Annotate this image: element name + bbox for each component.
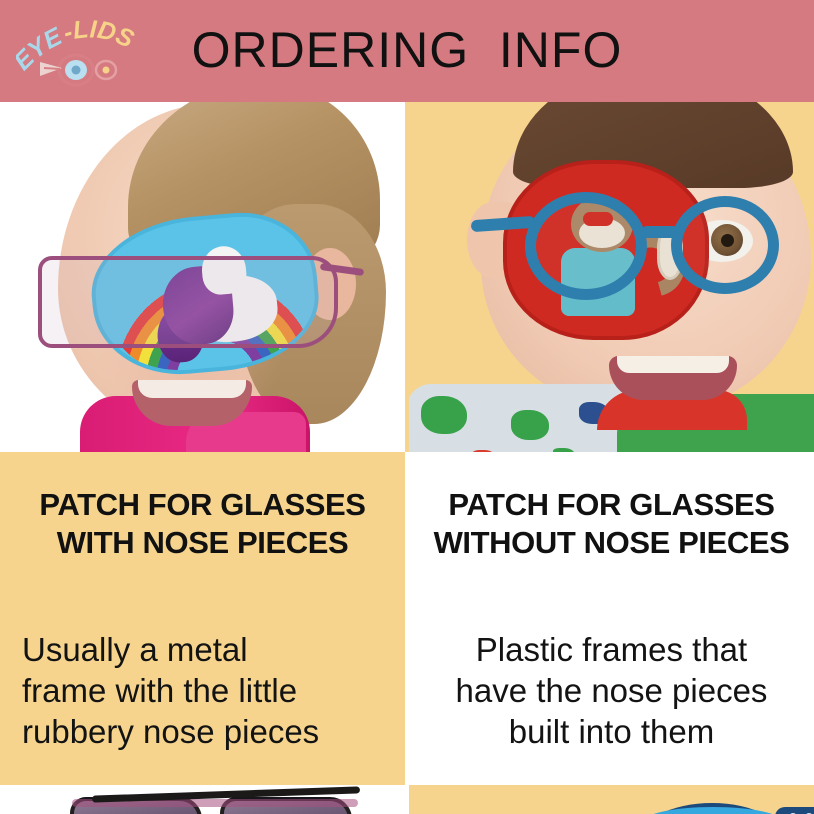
- card-description-with-nose-pieces: Usually a metal frame with the little ru…: [22, 629, 319, 752]
- card-desc-block-left: Usually a metal frame with the little ru…: [0, 595, 405, 785]
- page-title: ORDERING INFO: [0, 16, 814, 84]
- card-title-without-nose-pieces: PATCH FOR GLASSES WITHOUT NOSE PIECES: [434, 486, 790, 562]
- page-header: EYE -LIDS ORDERING INFO: [0, 0, 814, 102]
- blue-glasses-glow: [643, 807, 783, 814]
- card-title-block-left: PATCH FOR GLASSES WITH NOSE PIECES: [0, 452, 405, 595]
- bottom-strip-left: [0, 785, 405, 814]
- plastic-glasses-bridge: [641, 226, 679, 238]
- card-desc-block-right: Plastic frames that have the nose pieces…: [409, 595, 814, 785]
- plastic-glasses-lens-right: [671, 196, 779, 294]
- girl-smile: [132, 380, 252, 426]
- boy-smile: [609, 356, 737, 400]
- photo-girl-rainbow-unicorn-patch: [0, 102, 405, 452]
- column-with-nose-pieces: PATCH FOR GLASSES WITH NOSE PIECES Usual…: [0, 102, 405, 814]
- boy-illustration: [427, 102, 814, 452]
- card-title-with-nose-pieces: PATCH FOR GLASSES WITH NOSE PIECES: [39, 486, 365, 562]
- plastic-glasses-lens-left: [525, 192, 647, 300]
- dark-metal-sunglasses-graphic: [70, 789, 370, 814]
- column-without-nose-pieces: PATCH FOR GLASSES WITHOUT NOSE PIECES Pl…: [409, 102, 814, 814]
- metal-glasses-frame: [38, 256, 338, 348]
- bottom-strip-right: [409, 785, 814, 814]
- card-description-without-nose-pieces: Plastic frames that have the nose pieces…: [456, 629, 768, 752]
- blue-plastic-glasses-graphic: [627, 793, 814, 814]
- girl-illustration: [36, 102, 405, 452]
- card-title-block-right: PATCH FOR GLASSES WITHOUT NOSE PIECES: [409, 452, 814, 595]
- photo-boy-sock-monkey-patch: [409, 102, 814, 452]
- ordering-info-page: EYE -LIDS ORDERING INFO: [0, 0, 814, 814]
